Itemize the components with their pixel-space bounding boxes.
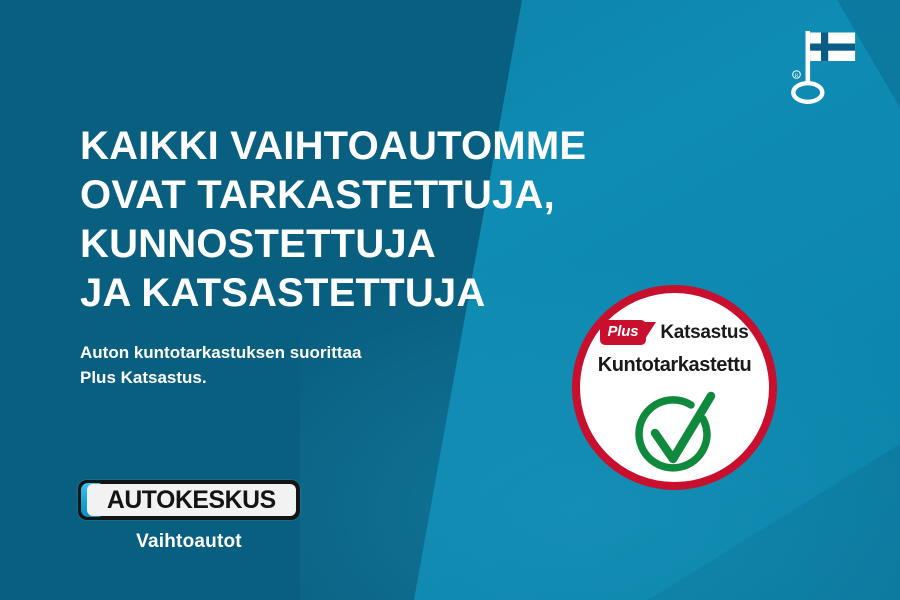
plus-tag-label: Plus [607,323,638,340]
autokeskus-sub-wordmark: Vaihtoautot [78,531,300,553]
green-circle-check-icon [627,389,723,475]
banner-root: R KAIKKI VAIHTOAUTOMME OVAT TARKASTETTUJ… [0,0,900,600]
headline-line-3: KUNNOSTETTUJA [80,220,680,269]
headline-line-1: KAIKKI VAIHTOAUTOMME [80,122,680,171]
badge-brand-row: Plus Katsastus [580,320,769,345]
plus-tag: Plus [600,320,646,345]
autokeskus-plate[interactable]: AUTOKESKUS [78,480,300,520]
katsastus-wordmark: Katsastus [660,323,748,342]
subtitle: Auton kuntotarkastuksen suorittaa Plus K… [80,340,540,390]
headline: KAIKKI VAIHTOAUTOMME OVAT TARKASTETTUJA,… [80,122,680,318]
plate-inner: AUTOKESKUS [87,484,296,516]
avainlippu-key-flag: R [786,26,860,108]
subtitle-line-2: Plus Katsastus. [80,365,540,390]
headline-line-4: JA KATSASTETTUJA [80,269,680,318]
plus-tag-flag-icon [645,322,656,339]
plus-katsastus-badge: Plus Katsastus Kuntotarkastettu [572,285,777,490]
autokeskus-wordmark: AUTOKESKUS [107,488,276,513]
headline-line-2: OVAT TARKASTETTUJA, [80,171,680,220]
badge-title: Kuntotarkastettu [580,354,769,377]
autokeskus-logo-lockup[interactable]: AUTOKESKUS Vaihtoautot [78,480,308,553]
subtitle-line-1: Auton kuntotarkastuksen suorittaa [80,340,540,365]
svg-text:R: R [795,73,799,79]
